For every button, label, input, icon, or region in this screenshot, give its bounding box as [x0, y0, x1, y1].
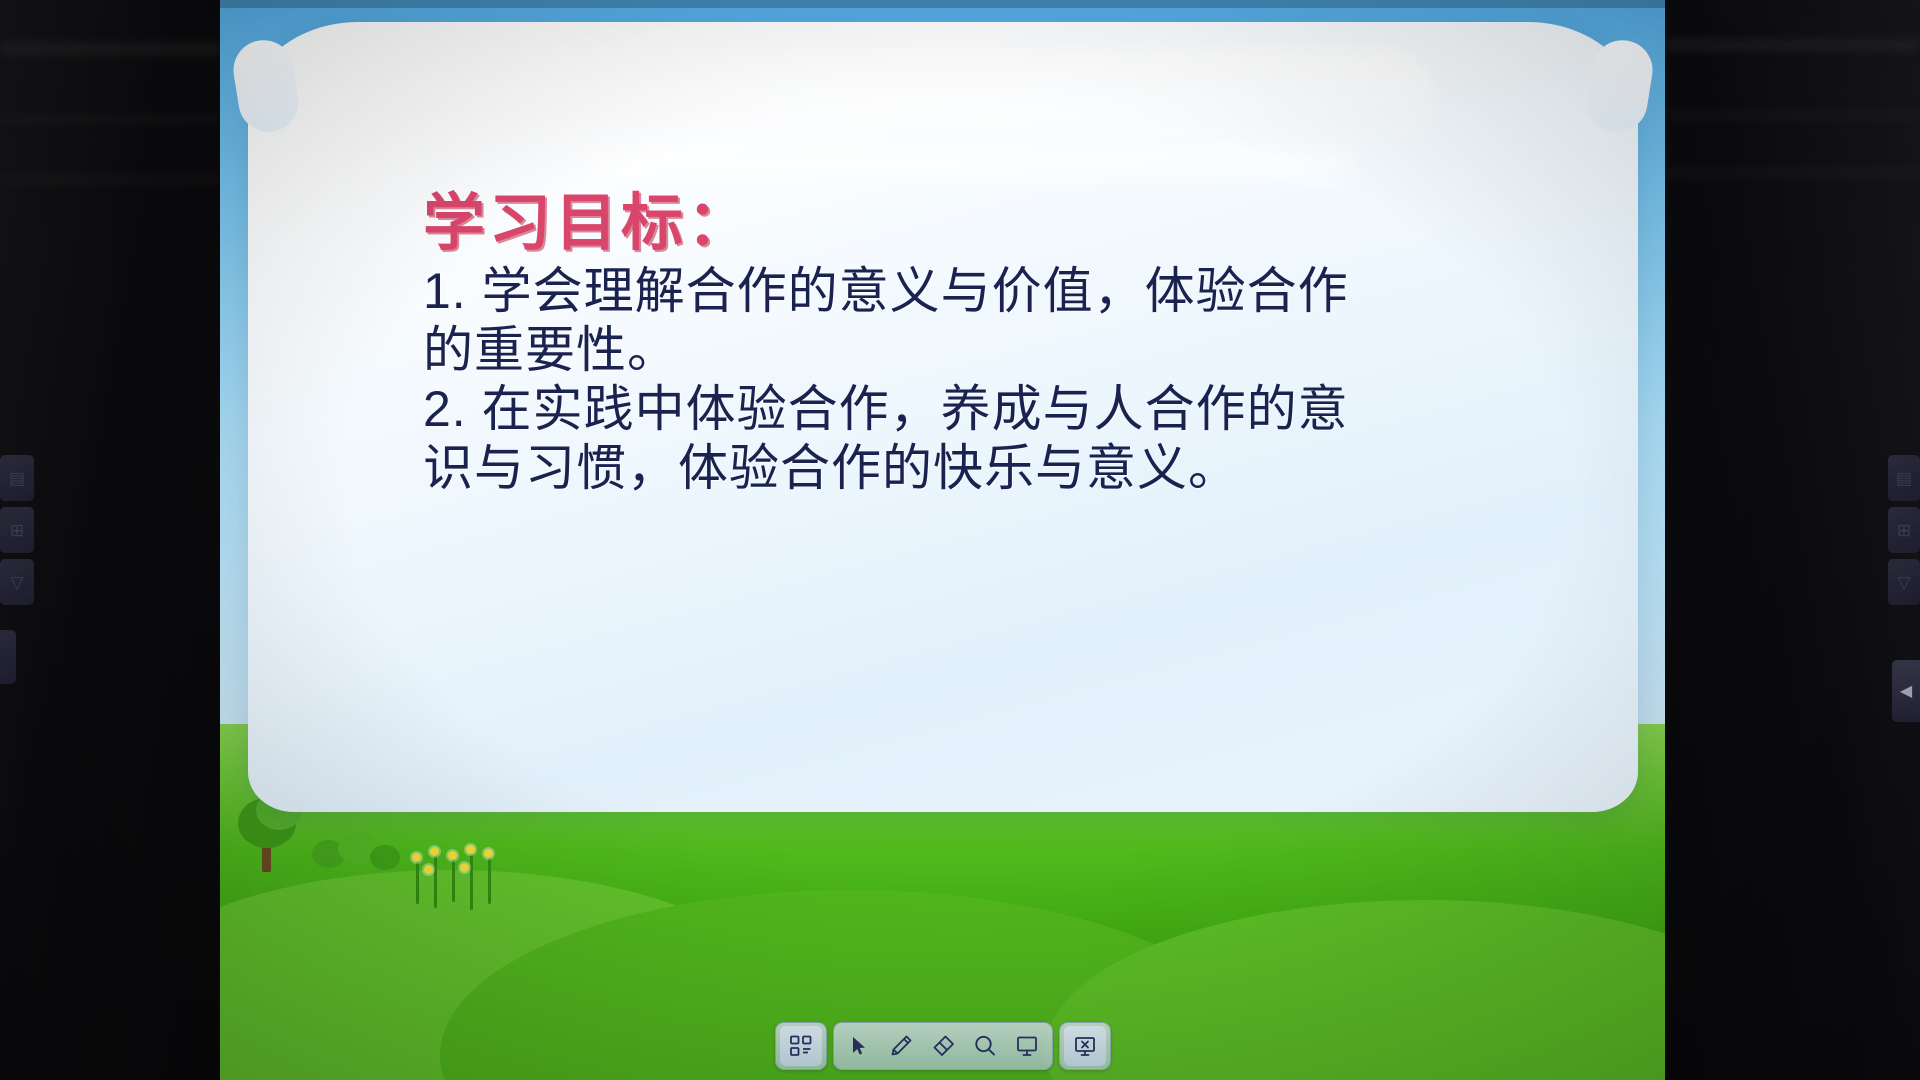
toolbar-group-exit[interactable]	[1059, 1022, 1111, 1070]
end-show-icon[interactable]	[1064, 1026, 1106, 1066]
slide-content-card: 学习目标： 1. 学会理解合作的意义与价值，体验合作 的重要性。 2. 在实践中…	[248, 22, 1638, 812]
side-panel-key-input-right[interactable]: ⊞	[1888, 507, 1920, 553]
pointer-icon[interactable]	[838, 1026, 880, 1066]
chevron-left-icon: ◀	[1900, 681, 1912, 701]
magnifier-icon[interactable]	[964, 1026, 1006, 1066]
slide-body-line-2: 的重要性。	[423, 321, 1493, 380]
projector-glare-secondary	[578, 142, 1358, 180]
eraser-icon[interactable]	[922, 1026, 964, 1066]
slide-text-block: 学习目标： 1. 学会理解合作的意义与价值，体验合作 的重要性。 2. 在实践中…	[423, 190, 1493, 498]
side-panel-key-left-edge[interactable]	[0, 630, 16, 684]
side-panel-key-input[interactable]: ⊞	[0, 507, 34, 553]
toolbar-group-annotation[interactable]	[833, 1022, 1053, 1070]
menu-icon: ▤	[0, 455, 34, 501]
pen-icon[interactable]	[880, 1026, 922, 1066]
slide-body-line-4: 识与习惯，体验合作的快乐与意义。	[423, 439, 1493, 498]
screenshot-root: ▤ ⊞ ▽ ▤ ⊞ ▽ ◀	[0, 0, 1920, 1080]
side-panel-key-down-right[interactable]: ▽	[1888, 559, 1920, 605]
slide-body: 1. 学会理解合作的意义与价值，体验合作 的重要性。 2. 在实践中体验合作，养…	[423, 262, 1493, 498]
screen-top-shadow	[220, 0, 1665, 8]
side-panel-key-menu[interactable]: ▤	[0, 455, 34, 501]
side-collapse-tab[interactable]: ◀	[1892, 660, 1920, 722]
projector-side-panel-left[interactable]: ▤ ⊞ ▽	[0, 455, 34, 605]
projected-slide: 学习目标： 1. 学会理解合作的意义与价值，体验合作 的重要性。 2. 在实践中…	[220, 0, 1665, 1080]
chevron-down-icon: ▽	[0, 559, 34, 605]
side-panel-key-menu-right[interactable]: ▤	[1888, 455, 1920, 501]
slide-body-line-3: 2. 在实践中体验合作，养成与人合作的意	[423, 380, 1493, 439]
slide-body-line-1: 1. 学会理解合作的意义与价值，体验合作	[423, 262, 1493, 321]
chevron-down-icon: ▽	[1888, 559, 1920, 605]
input-icon: ⊞	[1888, 507, 1920, 553]
projector-side-panel-right[interactable]: ▤ ⊞ ▽	[1888, 455, 1920, 605]
slide-sorter-icon[interactable]	[780, 1026, 822, 1066]
toolbar-group-layout[interactable]	[775, 1022, 827, 1070]
hill-decoration	[1045, 900, 1665, 1080]
side-panel-key-down[interactable]: ▽	[0, 559, 34, 605]
presentation-toolbar[interactable]	[775, 1022, 1111, 1070]
room-wall-right	[1665, 0, 1920, 1080]
slide-title: 学习目标：	[423, 190, 1493, 258]
input-icon: ⊞	[0, 507, 34, 553]
menu-icon: ▤	[1888, 455, 1920, 501]
screen-icon[interactable]	[1006, 1026, 1048, 1066]
